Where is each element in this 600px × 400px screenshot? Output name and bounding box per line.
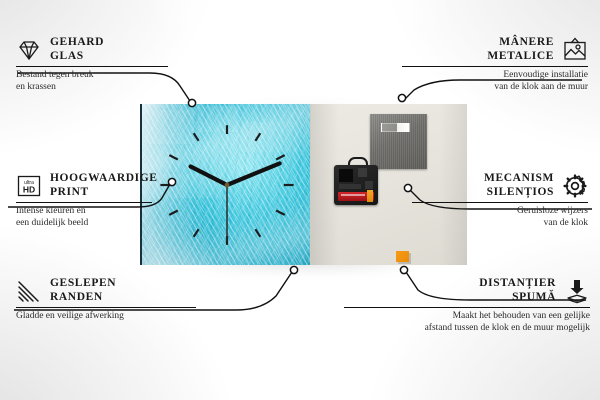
callout-gehard-glas-sub1: Bestand tegen breuk bbox=[16, 70, 186, 82]
hanger-slot bbox=[381, 123, 410, 132]
callout-distantier-spuma-rule bbox=[344, 307, 590, 308]
callout-gehard-glas: GEHARD GLAS Bestand tegen breuk en krass… bbox=[16, 36, 186, 93]
movement-body bbox=[334, 165, 378, 205]
clock-tick bbox=[276, 155, 285, 159]
battery bbox=[338, 192, 374, 201]
callout-distantier-spuma-sub1: Maakt het behouden van een gelijke bbox=[330, 311, 590, 323]
ultra-hd-icon: ultra HD bbox=[16, 173, 42, 199]
callout-mecanism-silentios-sub2: van de klok bbox=[398, 218, 588, 230]
clock-tick bbox=[194, 133, 199, 141]
callout-manere-metalice: MÂNERE METALICE Eenvoudige installatie v… bbox=[388, 36, 588, 93]
clock-tick bbox=[169, 155, 178, 159]
callout-distantier-spuma-sub2: afstand tussen de klok en de muur mogeli… bbox=[330, 323, 590, 335]
gear-icon bbox=[562, 173, 588, 199]
metal-hanger-plate bbox=[370, 114, 427, 169]
callout-manere-metalice-sub1: Eenvoudige installatie bbox=[388, 70, 588, 82]
battery-label bbox=[341, 194, 365, 196]
battery-positive-terminal bbox=[367, 190, 373, 202]
movement-slot-4 bbox=[365, 181, 373, 189]
movement-slot-3 bbox=[339, 184, 361, 189]
foam-spacer bbox=[396, 251, 409, 262]
callout-manere-metalice-sub2: van de klok aan de muur bbox=[388, 82, 588, 94]
clock-hand-minute bbox=[227, 163, 280, 185]
callout-gehard-glas-sub2: en krassen bbox=[16, 82, 186, 94]
callout-mecanism-silentios-header: MECANISM SILENȚIOS bbox=[398, 172, 588, 199]
callout-geslepen-randen-sub1: Gladde en veilige afwerking bbox=[16, 311, 216, 323]
callout-hoogwaardige-print-title: HOOGWAARDIGE PRINT bbox=[50, 172, 158, 199]
picture-hanger-icon bbox=[562, 37, 588, 63]
movement-slot-2 bbox=[358, 168, 367, 177]
callout-hoogwaardige-print: ultra HD HOOGWAARDIGE PRINT Intense kleu… bbox=[16, 172, 206, 229]
beveled-edge-icon bbox=[16, 278, 42, 304]
callout-manere-metalice-title: MÂNERE METALICE bbox=[487, 36, 554, 63]
clock-tick bbox=[255, 229, 260, 237]
callout-gehard-glas-header: GEHARD GLAS bbox=[16, 36, 186, 63]
callout-distantier-spuma-header: DISTANȚIER SPUMĂ bbox=[330, 277, 590, 304]
callout-geslepen-randen-title: GESLEPEN RANDEN bbox=[50, 277, 116, 304]
callout-mecanism-silentios-sub1: Geruisloze wijzers bbox=[398, 206, 588, 218]
callout-geslepen-randen-header: GESLEPEN RANDEN bbox=[16, 277, 216, 304]
callout-distantier-spuma: DISTANȚIER SPUMĂ Maakt het behouden van … bbox=[330, 277, 590, 334]
clock-tick bbox=[194, 229, 199, 237]
svg-text:HD: HD bbox=[23, 184, 35, 194]
callout-gehard-glas-rule bbox=[16, 66, 168, 67]
movement-slot-1 bbox=[339, 169, 353, 182]
callout-gehard-glas-title: GEHARD GLAS bbox=[50, 36, 104, 63]
callout-hoogwaardige-print-rule bbox=[16, 202, 152, 203]
callout-mecanism-silentios-rule bbox=[412, 202, 588, 203]
clock-center-pin bbox=[225, 183, 230, 188]
infographic-canvas: GEHARD GLAS Bestand tegen breuk en krass… bbox=[0, 0, 600, 400]
diamond-icon bbox=[16, 37, 42, 63]
clock-tick bbox=[276, 211, 285, 215]
quartz-movement bbox=[334, 163, 378, 205]
callout-geslepen-randen-rule bbox=[16, 307, 196, 308]
callout-manere-metalice-header: MÂNERE METALICE bbox=[388, 36, 588, 63]
callout-geslepen-randen: GESLEPEN RANDEN Gladde en veilige afwerk… bbox=[16, 277, 216, 323]
callout-mecanism-silentios-title: MECANISM SILENȚIOS bbox=[484, 172, 554, 199]
callout-distantier-spuma-title: DISTANȚIER SPUMĂ bbox=[479, 277, 556, 304]
callout-manere-metalice-rule bbox=[402, 66, 588, 67]
callout-hoogwaardige-print-sub1: Intense kleuren en bbox=[16, 206, 206, 218]
callout-mecanism-silentios: MECANISM SILENȚIOS bbox=[398, 172, 588, 229]
callout-hoogwaardige-print-header: ultra HD HOOGWAARDIGE PRINT bbox=[16, 172, 206, 199]
callout-hoogwaardige-print-sub2: een duidelijk beeld bbox=[16, 218, 206, 230]
clock-tick bbox=[255, 133, 260, 141]
foam-spacer-icon bbox=[564, 278, 590, 304]
